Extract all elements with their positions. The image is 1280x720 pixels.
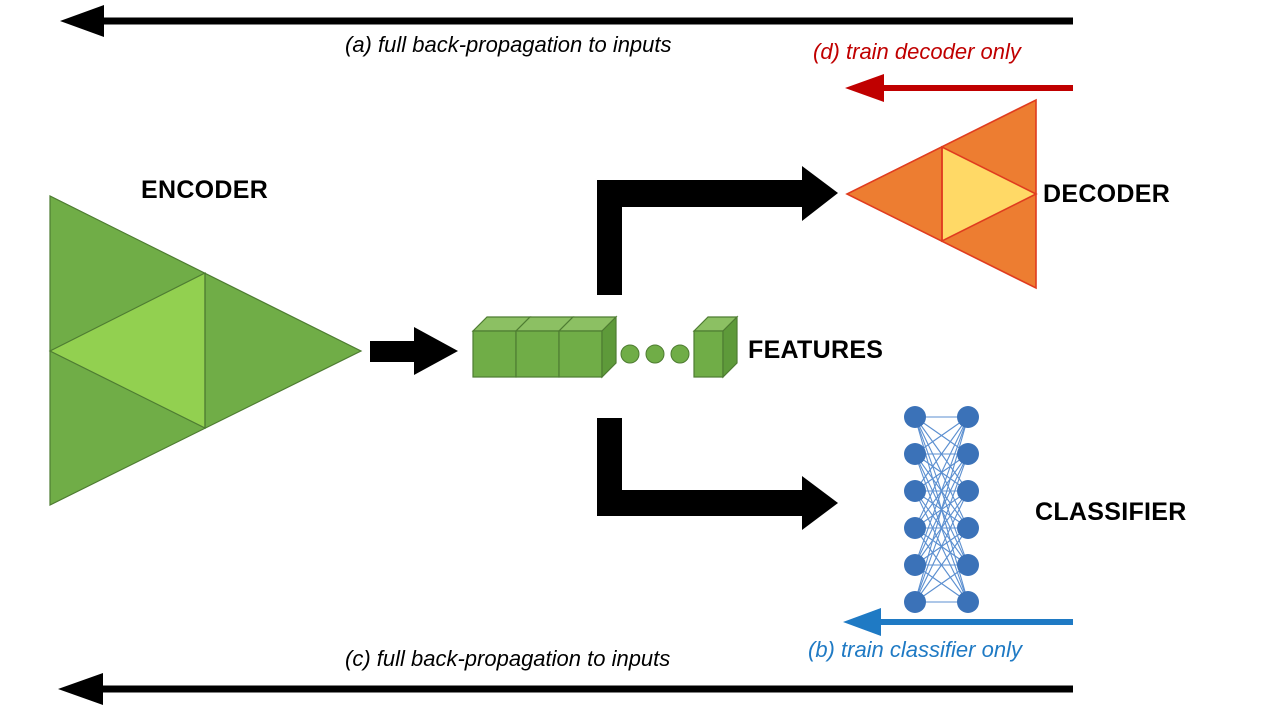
- arrow-encoder-to-features: [370, 327, 458, 375]
- arrow-features-to-decoder: [597, 166, 838, 295]
- annotation-c-label: (c) full back-propagation to inputs: [345, 648, 670, 670]
- encoder-shape: [50, 196, 361, 505]
- classifier-label: CLASSIFIER: [1035, 500, 1187, 525]
- features-label: FEATURES: [748, 338, 883, 363]
- diagram-canvas: (a) full back-propagation to inputs (d) …: [0, 0, 1280, 720]
- feature-cubes: [473, 317, 737, 377]
- arrow-c-full-backprop-bottom: [58, 673, 1073, 705]
- feature-cube: [694, 317, 737, 377]
- feature-ellipsis: [621, 345, 689, 363]
- feature-cube: [559, 317, 616, 377]
- arrow-features-to-classifier: [597, 418, 838, 530]
- annotation-b-label: (b) train classifier only: [808, 639, 1022, 661]
- decoder-label: DECODER: [1043, 182, 1170, 207]
- arrow-b-train-classifier-only: [843, 608, 1073, 636]
- classifier-edges: [915, 417, 968, 602]
- diagram-graphics: [0, 0, 1280, 720]
- encoder-label: ENCODER: [141, 178, 268, 203]
- annotation-d-label: (d) train decoder only: [813, 41, 1021, 63]
- annotation-a-label: (a) full back-propagation to inputs: [345, 34, 672, 56]
- decoder-shape: [847, 100, 1036, 288]
- classifier-network: [904, 406, 979, 613]
- arrow-d-train-decoder-only: [845, 74, 1073, 102]
